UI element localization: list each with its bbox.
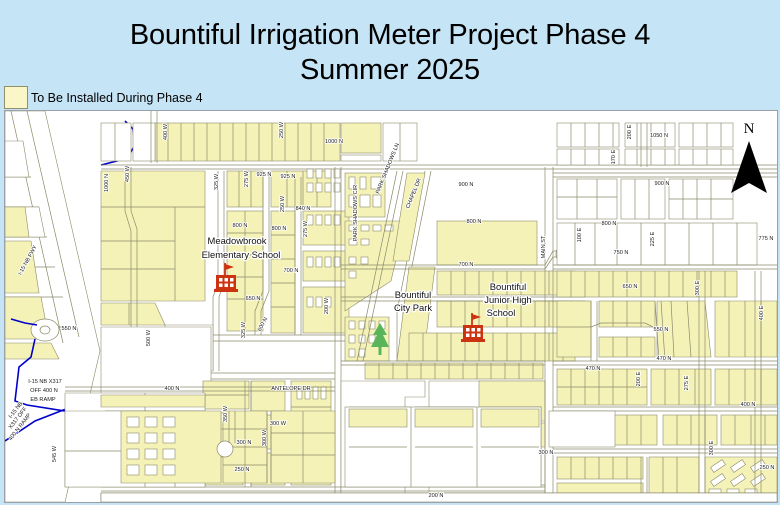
place-label-junior-high-line2: Junior High — [484, 294, 531, 305]
page-title-line2: Summer 2025 — [0, 54, 780, 86]
street-label: 800 N — [602, 221, 617, 227]
street-label: 900 N — [459, 182, 474, 188]
street-label: 250 W — [279, 121, 285, 138]
legend-label-phase4: To Be Installed During Phase 4 — [31, 91, 203, 105]
street-label: 470 N — [657, 356, 672, 362]
map-vector-layer: .p { fill:#f5f2b8; stroke:#8a8a6a; strok… — [5, 111, 777, 502]
street-label: 700 N — [459, 262, 474, 268]
street-label: 925 N — [281, 174, 296, 180]
street-label: 200 W — [324, 297, 330, 314]
street-label: 400 N — [741, 402, 756, 408]
street-label: 300 E — [695, 280, 701, 295]
street-label: 325 W — [214, 173, 220, 190]
street-label: 400 E — [759, 305, 765, 320]
map-canvas[interactable]: .p { fill:#f5f2b8; stroke:#8a8a6a; strok… — [4, 110, 778, 503]
street-label: 200 E — [636, 371, 642, 386]
street-label: 300 N — [539, 450, 554, 456]
street-label: 325 W — [241, 321, 247, 338]
place-label-junior-high-line1: Bountiful — [490, 281, 526, 292]
header-banner: Bountiful Irrigation Meter Project Phase… — [0, 0, 780, 110]
street-label: MAIN ST — [541, 235, 547, 258]
street-label: 200 E — [627, 124, 633, 139]
street-label: 350 W — [223, 405, 229, 422]
street-label: 840 N — [296, 206, 311, 212]
street-label: OFF 400 N — [30, 388, 58, 394]
place-label-meadowbrook-line2: Elementary School — [202, 249, 281, 260]
street-label: 900 N — [655, 181, 670, 187]
street-label: 300 N — [237, 440, 252, 446]
street-label: 500 W — [146, 329, 152, 346]
street-label: 545 W — [52, 445, 58, 462]
street-label: 750 N — [614, 250, 629, 256]
street-label: 400 N — [165, 386, 180, 392]
street-label: 925 N — [257, 172, 272, 178]
street-label: 275 W — [303, 220, 309, 237]
street-label: 650 N — [623, 284, 638, 290]
street-label: 775 N — [759, 236, 774, 242]
street-label: PARK SHADOWS CIR — [353, 185, 359, 241]
street-label: 300 E — [709, 440, 715, 455]
street-label: 275 W — [244, 170, 250, 187]
street-label: 400 W — [163, 123, 169, 140]
street-label: 100 E — [577, 227, 583, 242]
street-label: I-15 NB X317 — [28, 379, 62, 385]
street-label: 300 W — [262, 429, 268, 446]
street-label: 225 E — [650, 231, 656, 246]
north-arrow-label: N — [744, 121, 755, 137]
place-label-meadowbrook-line1: Meadowbrook — [208, 235, 267, 246]
street-label: 800 N — [467, 219, 482, 225]
street-label: 1050 N — [650, 133, 668, 139]
street-label: 300 W — [270, 421, 287, 427]
street-label: 1000 N — [325, 139, 343, 145]
street-label: 170 E — [611, 149, 617, 164]
street-label: 250 N — [235, 467, 250, 473]
street-label: ANTELOPE DR — [271, 386, 310, 392]
street-label: 450 W — [125, 165, 131, 182]
street-label: 550 N — [62, 326, 77, 332]
street-label: 1000 N — [104, 174, 110, 192]
legend-swatch-phase4 — [4, 86, 28, 109]
street-label: 800 N — [272, 226, 287, 232]
south-final — [549, 411, 615, 447]
place-label-city-park-line2: City Park — [394, 302, 432, 313]
street-label: 275 E — [684, 375, 690, 390]
legend: To Be Installed During Phase 4 — [4, 86, 203, 109]
street-label: 650 N — [246, 296, 261, 302]
street-label: 250 N — [760, 465, 775, 471]
place-label-city-park-line1: Bountiful — [395, 289, 431, 300]
map-page: Bountiful Irrigation Meter Project Phase… — [0, 0, 780, 505]
street-label: 550 N — [654, 327, 669, 333]
street-label: 470 N — [586, 366, 601, 372]
street-label: 800 N — [233, 223, 248, 229]
street-label: EB RAMP — [30, 397, 55, 403]
street-label: 200 N — [429, 493, 444, 499]
street-label: 700 N — [284, 268, 299, 274]
page-title-line1: Bountiful Irrigation Meter Project Phase… — [0, 19, 780, 51]
place-label-junior-high-line3: School — [487, 307, 516, 318]
street-label: 250 W — [280, 195, 286, 212]
